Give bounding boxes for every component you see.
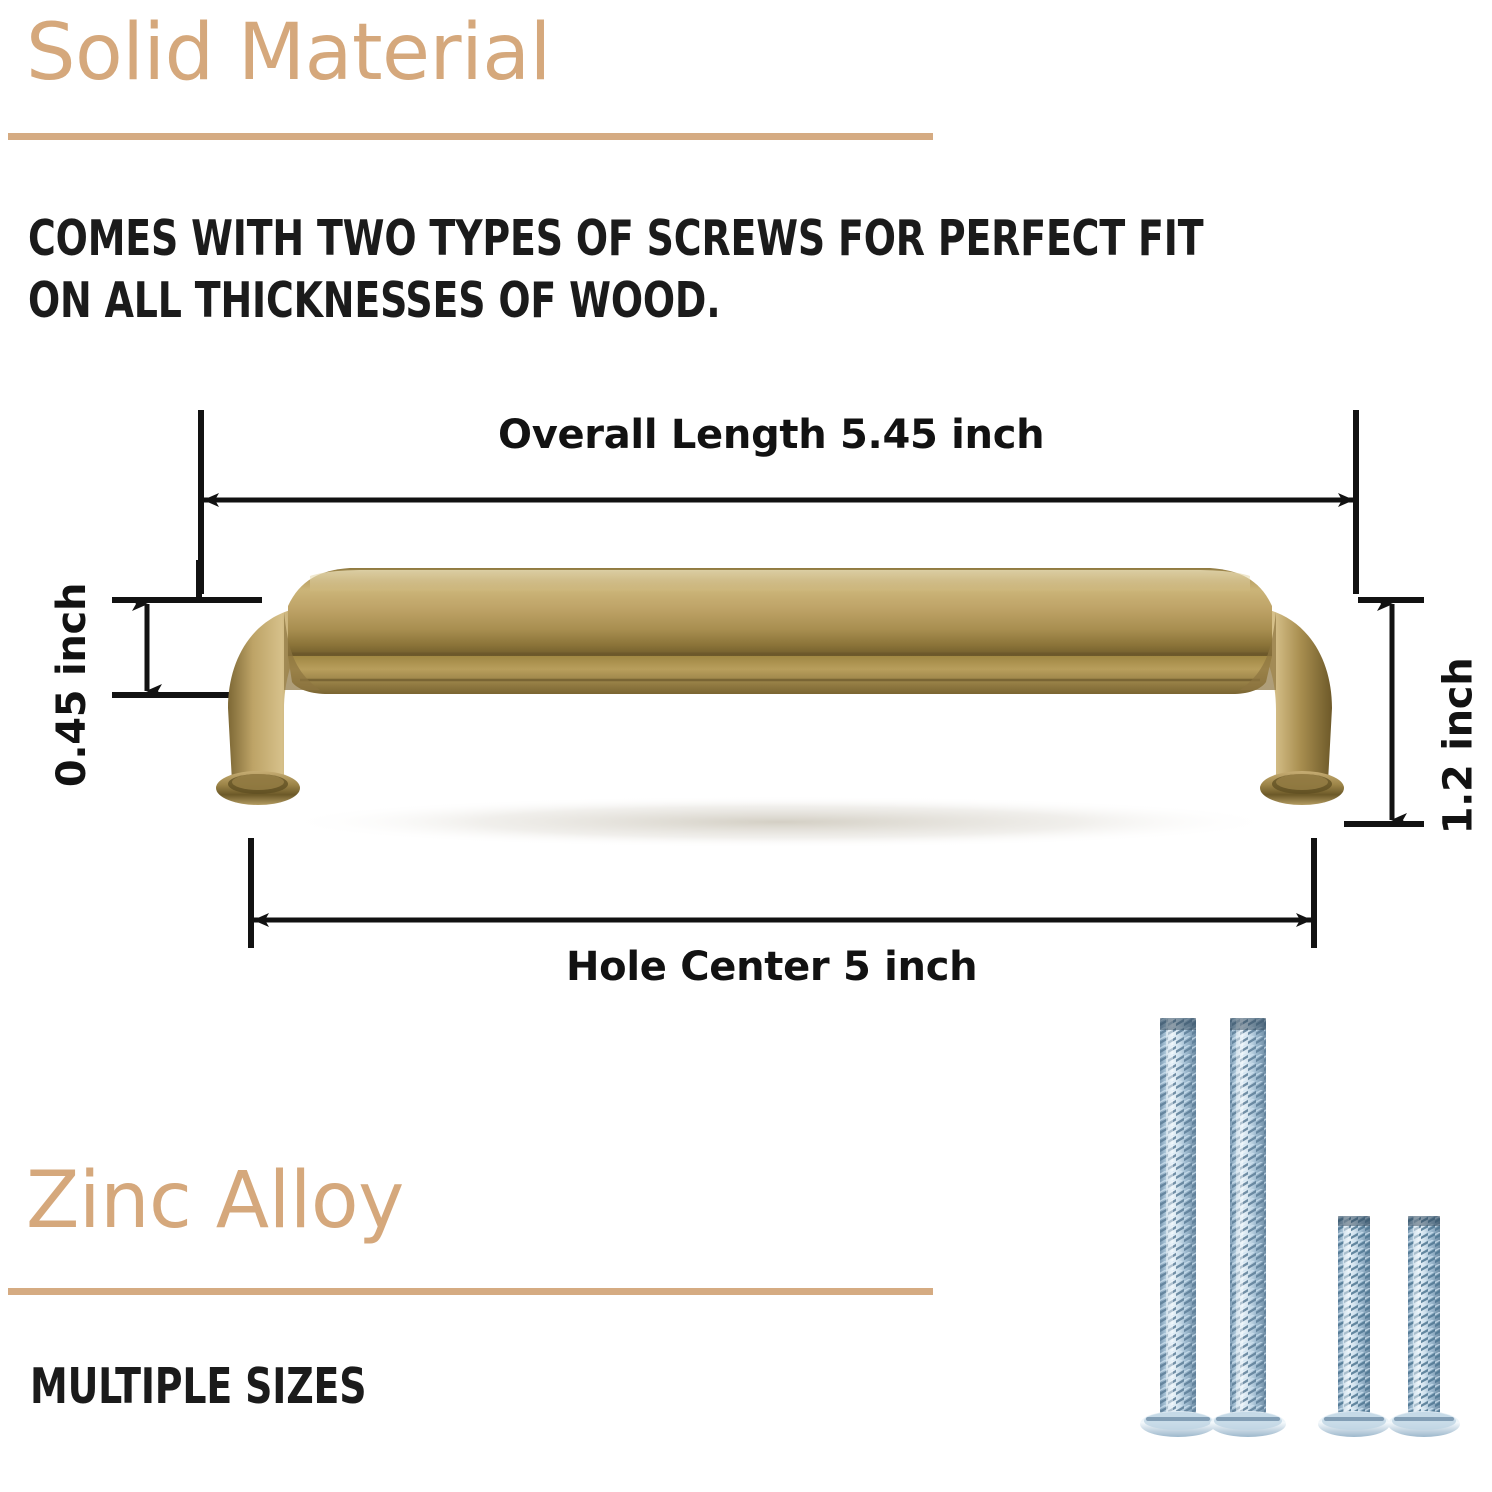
handle-left-foot-shine <box>232 774 284 790</box>
handle-right-foot-shine <box>1276 774 1328 790</box>
screw-long-2 <box>1210 1018 1286 1437</box>
handle-top-highlight <box>310 570 1250 592</box>
product-infographic: Solid Material COMES WITH TWO TYPES OF S… <box>0 0 1492 1492</box>
dimension-label-total-height: 1.2 inch <box>1435 658 1481 835</box>
dimension-label-overall-length: Overall Length 5.45 inch <box>498 412 1044 458</box>
section-heading-zinc-alloy: Zinc Alloy <box>26 1156 404 1246</box>
screw-short-1 <box>1318 1216 1390 1437</box>
dimension-label-projection-height: 0.45 inch <box>49 583 95 787</box>
dimension-label-hole-center: Hole Center 5 inch <box>566 944 977 990</box>
hole-center-dimension <box>251 838 1314 948</box>
handle-shadow <box>280 796 1280 848</box>
cabinet-pull-handle-image <box>180 560 1380 850</box>
heading-divider-bottom <box>8 1288 933 1295</box>
screw-long-1 <box>1140 1018 1216 1437</box>
handle-bar-chamfer <box>288 656 1272 694</box>
mounting-screws-image <box>1120 1000 1492 1492</box>
multiple-sizes-text: MULTIPLE SIZES <box>30 1356 366 1418</box>
screw-short-2 <box>1388 1216 1460 1437</box>
